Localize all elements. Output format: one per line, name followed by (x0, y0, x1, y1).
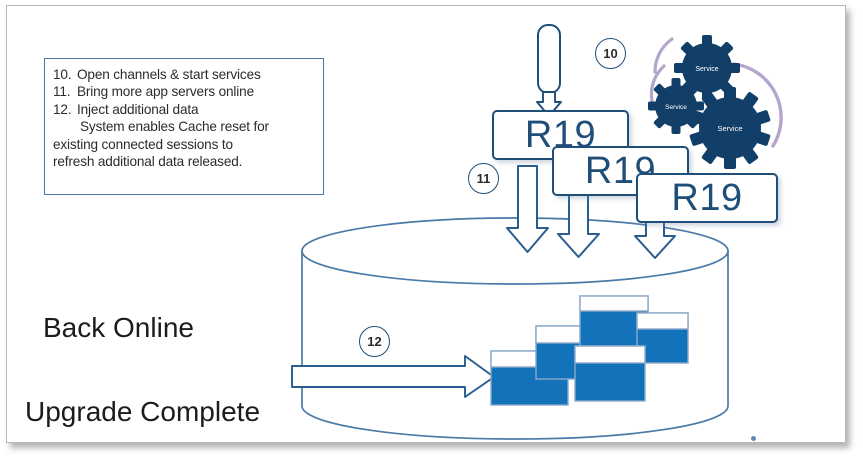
step-continuation-line: refresh additional data released. (53, 153, 317, 170)
step-item: 10. Open channels & start services (53, 66, 317, 83)
data-block (575, 346, 645, 401)
callout-marker-11: 11 (468, 163, 499, 194)
step-number: 11. (53, 83, 77, 100)
gear-label: Service (695, 66, 718, 73)
slide-frame: Service Service (6, 5, 846, 443)
steps-text-box: 10. Open channels & start services 11. B… (44, 58, 324, 195)
gear-service-large: Service (689, 87, 771, 169)
step-number: 10. (53, 66, 77, 83)
step-item: 11. Bring more app servers online (53, 83, 317, 100)
label-back-online: Back Online (43, 312, 194, 344)
label-upgrade-complete: Upgrade Complete (25, 396, 260, 428)
step-text: Bring more app servers online (77, 83, 254, 100)
release-box-r19-3: R19 (636, 173, 778, 223)
callout-marker-10: 10 (595, 38, 626, 69)
step-item: 12. Inject additional data (53, 101, 317, 118)
gear-label: Service (717, 124, 742, 133)
channel-capsule (537, 25, 561, 116)
step-text: Inject additional data (77, 101, 198, 118)
callout-marker-12: 12 (359, 326, 390, 357)
gear-label: Service (665, 104, 687, 111)
decorative-dot (751, 436, 756, 441)
step-continuation-line: System enables Cache reset for (53, 118, 317, 135)
step-number: 12. (53, 101, 77, 118)
gear-service-small: Service (648, 78, 704, 134)
step-continuation-line: existing connected sessions to (53, 136, 317, 153)
step-text: Open channels & start services (77, 66, 261, 83)
